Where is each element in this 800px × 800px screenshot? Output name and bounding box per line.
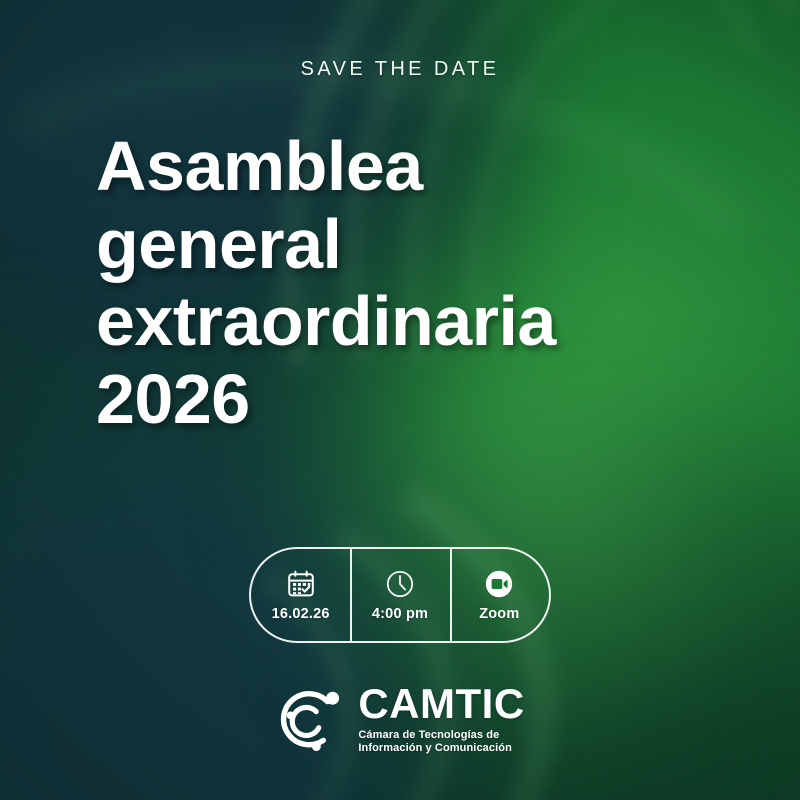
- detail-time: 4:00 pm: [350, 549, 449, 641]
- kicker-text: SAVE THE DATE: [0, 58, 800, 81]
- detail-platform-label: Zoom: [479, 606, 519, 622]
- headline-line-2: general: [96, 206, 736, 284]
- headline-line-4: 2026: [96, 361, 736, 439]
- detail-platform: Zoom: [450, 549, 549, 641]
- headline-line-3: extraordinaria: [96, 283, 736, 361]
- detail-time-label: 4:00 pm: [372, 606, 428, 622]
- headline-line-1: Asamblea: [96, 128, 736, 206]
- event-details-pill: 16.02.26 4:00 pm: [249, 547, 551, 643]
- clock-icon: [384, 569, 416, 599]
- page-title: Asamblea general extraordinaria 2026: [96, 128, 736, 439]
- zoom-camera-icon: [483, 569, 515, 599]
- calendar-icon: [285, 569, 317, 599]
- save-the-date-poster: SAVE THE DATE Asamblea general extraordi…: [0, 0, 800, 800]
- camtic-wordmark: CAMTIC: [358, 683, 524, 725]
- camtic-logo-text: CAMTIC Cámara de Tecnologías de Informac…: [358, 683, 524, 756]
- detail-date-label: 16.02.26: [272, 606, 330, 622]
- detail-date: 16.02.26: [251, 549, 350, 641]
- camtic-orbit-icon: [275, 684, 345, 754]
- camtic-tagline-line-2: Información y Comunicación: [358, 742, 524, 755]
- camtic-tagline-line-1: Cámara de Tecnologías de: [358, 729, 524, 742]
- camtic-logo: CAMTIC Cámara de Tecnologías de Informac…: [0, 683, 800, 756]
- camtic-tagline: Cámara de Tecnologías de Información y C…: [358, 729, 524, 756]
